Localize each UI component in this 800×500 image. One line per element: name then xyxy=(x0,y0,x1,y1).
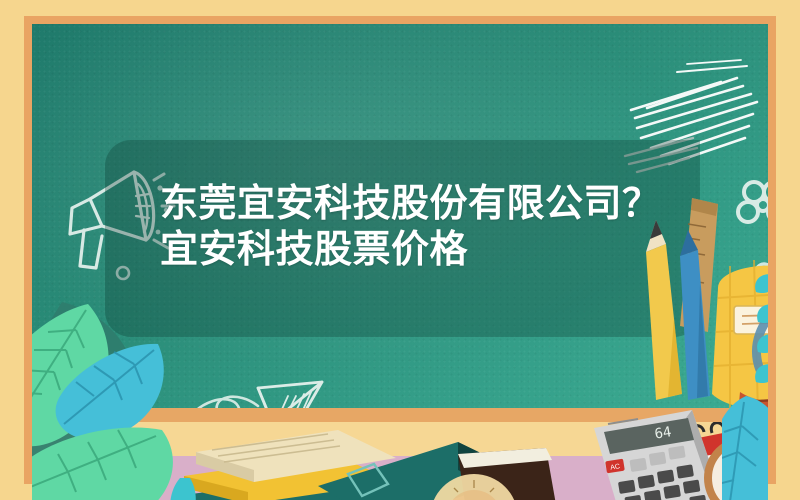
globe xyxy=(750,286,768,416)
banner-canvas: 东莞宜安科技股份有限公司？宜安科技股票价格 xyxy=(0,0,800,500)
desk-band-cream xyxy=(32,422,768,456)
flower-doodle-small xyxy=(746,256,768,308)
desk-ledge xyxy=(32,408,768,500)
desk-band-pink xyxy=(32,456,768,500)
flower-doodle-large xyxy=(732,174,768,236)
backpack xyxy=(700,252,768,432)
desk-band-tan xyxy=(32,408,768,422)
page-title: 东莞宜安科技股份有限公司？宜安科技股票价格 xyxy=(160,181,680,273)
chalkboard: 东莞宜安科技股份有限公司？宜安科技股票价格 xyxy=(32,24,768,500)
